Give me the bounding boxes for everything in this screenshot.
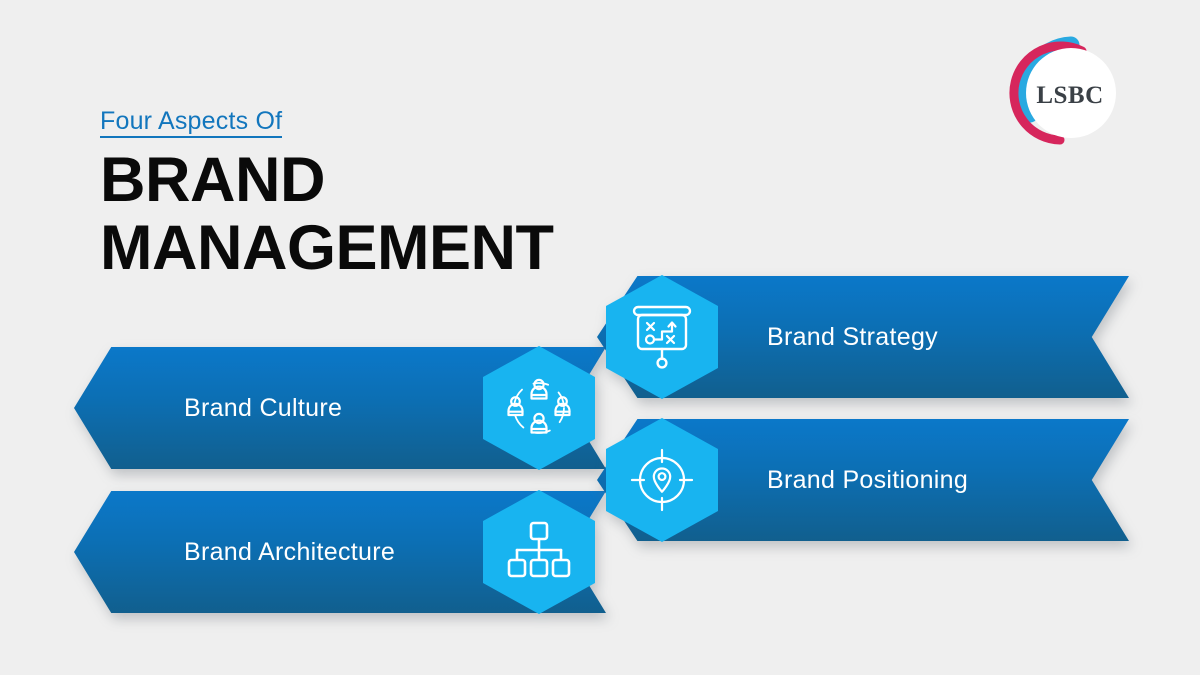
title-line-2: MANAGEMENT [100,214,553,282]
page-title: BRAND MANAGEMENT [100,146,553,282]
lsbc-logo: LSBC [1008,36,1123,151]
banner-brand-architecture[interactable]: Brand Architecture [74,491,606,613]
logo-wordmark: LSBC [1008,36,1123,151]
infographic-canvas: Four Aspects Of BRAND MANAGEMENT LSBC Br… [0,0,1200,675]
eyebrow-text: Four Aspects Of [100,108,282,138]
banner-brand-strategy[interactable]: Brand Strategy [597,276,1129,398]
title-line-1: BRAND [100,145,325,215]
banner-brand-culture[interactable]: Brand Culture [74,347,606,469]
banner-brand-positioning[interactable]: Brand Positioning [597,419,1129,541]
